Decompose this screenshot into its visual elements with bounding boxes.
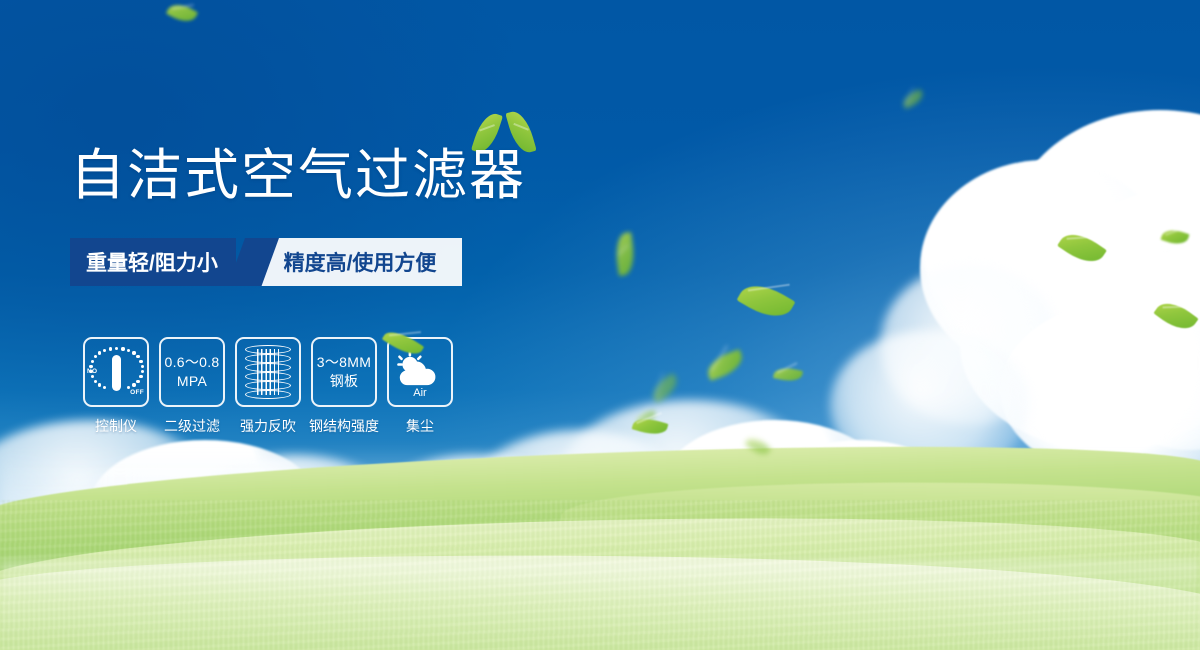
banner-content: 自洁式空气过滤器 精度高/使用方便 重量轻/阻力小 xyxy=(0,0,1200,650)
feature-caption: 钢结构强度 xyxy=(309,416,379,436)
feature-caption: 控制仪 xyxy=(95,416,137,436)
feature-item-blowback[interactable]: 强力反吹 xyxy=(230,337,306,436)
feature-icon-box: 0.6～0.8 MPA xyxy=(159,337,225,407)
subtitle-right-text: 精度高/使用方便 xyxy=(258,238,462,286)
feature-caption: 二级过滤 xyxy=(164,416,220,436)
air-label-text: Air xyxy=(393,387,447,399)
product-banner: 自洁式空气过滤器 精度高/使用方便 重量轻/阻力小 xyxy=(0,0,1200,650)
steel-thickness-text: 3～8MM xyxy=(317,353,371,372)
feature-icon-box: 3～8MM 钢板 xyxy=(311,337,377,407)
dial-pointer xyxy=(112,355,121,391)
feature-caption: 集尘 xyxy=(406,416,434,436)
coil-filter-icon xyxy=(245,345,291,399)
steel-plate-icon: 3～8MM 钢板 xyxy=(317,353,371,391)
leaf-icon xyxy=(632,415,669,439)
feature-item-steel-plate[interactable]: 3～8MM 钢板 钢结构强度 xyxy=(306,337,382,436)
pressure-unit-text: MPA xyxy=(164,372,219,391)
pressure-value-icon: 0.6～0.8 MPA xyxy=(164,353,219,391)
subtitle-left-text: 重量轻/阻力小 xyxy=(70,238,236,286)
feature-caption: 强力反吹 xyxy=(240,416,296,436)
control-dial-icon: NO OFF xyxy=(88,343,144,401)
feature-item-dust-collection[interactable]: Air 集尘 xyxy=(382,337,458,436)
steel-material-text: 钢板 xyxy=(317,372,371,391)
feature-list: NO OFF 控制仪 0.6～0.8 MPA 二级过滤 xyxy=(78,337,458,436)
feature-item-pressure[interactable]: 0.6～0.8 MPA 二级过滤 xyxy=(154,337,230,436)
feature-item-control-dial[interactable]: NO OFF 控制仪 xyxy=(78,337,154,436)
page-title: 自洁式空气过滤器 xyxy=(70,144,526,206)
subtitle-bar: 精度高/使用方便 重量轻/阻力小 xyxy=(70,238,462,286)
cloud-air-icon: Air xyxy=(393,347,447,397)
feature-icon-box xyxy=(235,337,301,407)
feature-icon-box: NO OFF xyxy=(83,337,149,407)
pressure-range-text: 0.6～0.8 xyxy=(164,353,219,372)
dial-on-label: NO xyxy=(87,368,97,375)
dial-off-label: OFF xyxy=(130,389,144,396)
feature-icon-box: Air xyxy=(387,337,453,407)
